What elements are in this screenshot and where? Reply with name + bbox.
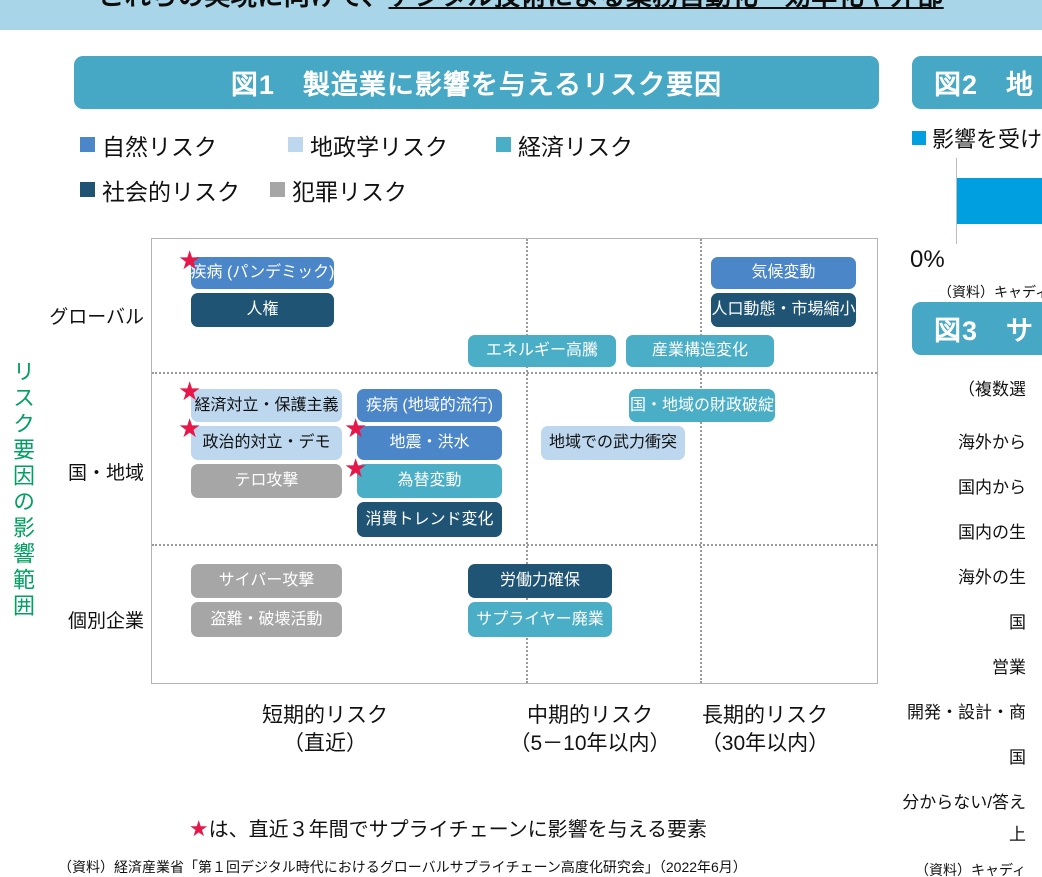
legend-swatch-crime xyxy=(270,182,285,197)
x-tick-short: 短期的リスク （直近） xyxy=(230,702,420,757)
figure-3-row-label: 上 xyxy=(1009,820,1026,845)
legend-item-crime: 犯罪リスク xyxy=(270,173,407,207)
risk-box[interactable]: 人権 xyxy=(191,293,334,327)
figure-2-source: （資料）キャディ xyxy=(938,282,1042,302)
legend-swatch-geopolitical xyxy=(288,137,303,152)
legend-label-geopolitical: 地政学リスク xyxy=(310,128,448,162)
figure-3-subtitle: （複数選 xyxy=(958,375,1026,400)
y-axis-label: リスク要因の影響範囲 xyxy=(6,360,38,620)
legend-label-social: 社会的リスク xyxy=(102,173,240,207)
slide-page: これらの実現に向けて、デジタル技術による業務自動化・効率化や外部 図1 製造業に… xyxy=(0,0,1042,877)
figure-1-panel: 図1 製造業に影響を与えるリスク要因 自然リスク 地政学リスク 経済リスク xyxy=(0,30,896,877)
legend-label-crime: 犯罪リスク xyxy=(292,173,407,207)
legend-item-geopolitical: 地政学リスク xyxy=(288,128,496,162)
matrix-hline-2 xyxy=(152,544,877,546)
top-banner: これらの実現に向けて、デジタル技術による業務自動化・効率化や外部 xyxy=(0,0,1042,30)
figure-2-legend-label: 影響を受けた xyxy=(932,122,1042,154)
x-tick-long-line2: （30年以内） xyxy=(670,730,860,758)
risk-box[interactable]: 経済対立・保護主義 xyxy=(191,389,342,422)
figure-3-row-label: 海外の生 xyxy=(958,563,1026,588)
top-banner-text: これらの実現に向けて、デジタル技術による業務自動化・効率化や外部 xyxy=(98,0,943,13)
right-panel-clipped: 図2 地 影響を受けた 0% （資料）キャディ 図3 サ （複数選 海外から 国… xyxy=(896,30,1042,877)
figure-3-row-label: 営業 xyxy=(992,653,1026,678)
y-tick-country: 国・地域 xyxy=(48,458,144,485)
y-tick-company: 個別企業 xyxy=(48,606,144,633)
y-tick-global: グローバル xyxy=(48,302,144,329)
risk-matrix: ★ 疾病 (パンデミック) 人権 エネルギー高騰 産業構造変化 気候変動 人口動… xyxy=(151,238,878,684)
x-tick-mid: 中期的リスク （5－10年以内） xyxy=(495,702,685,757)
risk-box[interactable]: 政治的対立・デモ xyxy=(191,426,342,460)
matrix-vline-2 xyxy=(700,239,702,683)
figure-3-title: 図3 サ xyxy=(912,302,1042,355)
x-tick-long: 長期的リスク （30年以内） xyxy=(670,702,860,757)
legend-row-2: 社会的リスク 犯罪リスク xyxy=(80,167,880,212)
legend-swatch-natural xyxy=(80,137,95,152)
risk-box[interactable]: サイバー攻撃 xyxy=(191,564,342,598)
legend-label-natural: 自然リスク xyxy=(102,128,217,162)
figure-3-row-label: 海外から xyxy=(958,428,1026,453)
x-tick-long-line1: 長期的リスク xyxy=(670,702,860,730)
risk-box[interactable]: 消費トレンド変化 xyxy=(357,502,502,537)
risk-box[interactable]: 疾病 (パンデミック) xyxy=(191,257,334,289)
top-banner-underlined: デジタル技術による業務自動化・効率化や外部 xyxy=(389,0,944,11)
risk-box[interactable]: エネルギー高騰 xyxy=(468,335,616,367)
figure-3-row-label: 国 xyxy=(1009,608,1026,633)
risk-box[interactable]: テロ攻撃 xyxy=(191,464,342,498)
footnote-text: は、直近３年間でサプライチェーンに影響を与える要素 xyxy=(209,819,707,841)
risk-box[interactable]: 気候変動 xyxy=(711,257,856,289)
legend-swatch-social xyxy=(80,182,95,197)
figure-3-source: （資料）キャディ xyxy=(915,860,1026,877)
risk-box[interactable]: 国・地域の財政破綻 xyxy=(629,389,775,422)
figure-2-title: 図2 地 xyxy=(912,56,1042,109)
figure-3-row-label: 国 xyxy=(1009,743,1026,768)
figure-3-row-label: 分からない/答え xyxy=(902,788,1026,813)
legend-swatch-economic xyxy=(496,137,511,152)
risk-box[interactable]: 産業構造変化 xyxy=(626,335,774,367)
x-tick-short-line1: 短期的リスク xyxy=(230,702,420,730)
risk-box[interactable]: 労働力確保 xyxy=(468,564,612,598)
figure-2-legend: 影響を受けた xyxy=(912,122,1042,154)
figure-1-title: 図1 製造業に影響を与えるリスク要因 xyxy=(74,56,879,109)
legend-item-social: 社会的リスク xyxy=(80,173,270,207)
risk-box[interactable]: 人口動態・市場縮小 xyxy=(711,293,856,327)
risk-box[interactable]: サプライヤー廃業 xyxy=(468,602,612,637)
legend-swatch-affected xyxy=(912,131,926,145)
x-tick-mid-line2: （5－10年以内） xyxy=(495,730,685,758)
x-tick-short-line2: （直近） xyxy=(230,730,420,758)
legend-item-natural: 自然リスク xyxy=(80,128,288,162)
legend-row-1: 自然リスク 地政学リスク 経済リスク xyxy=(80,122,880,167)
figure-1-source: （資料）経済産業省「第１回デジタル時代におけるグローバルサプライチェーン高度化研… xyxy=(58,857,747,877)
figure-1-legend: 自然リスク 地政学リスク 経済リスク 社会的リスク 犯罪リス xyxy=(80,122,880,212)
top-banner-plain: これらの実現に向けて、 xyxy=(98,0,388,11)
risk-box[interactable]: 疾病 (地域的流行) xyxy=(357,389,502,422)
legend-label-economic: 経済リスク xyxy=(518,128,633,162)
figure-1-footnote: ★は、直近３年間でサプライチェーンに影響を与える要素 xyxy=(0,813,896,842)
figure-2-axis-zero-label: 0% xyxy=(910,246,945,274)
figure-3-row-label: 国内から xyxy=(958,473,1026,498)
figure-3-row-label: 国内の生 xyxy=(958,518,1026,543)
legend-item-economic: 経済リスク xyxy=(496,128,633,162)
risk-box[interactable]: 為替変動 xyxy=(357,464,502,498)
matrix-hline-1 xyxy=(152,372,877,374)
figure-2-bar xyxy=(957,178,1042,224)
footnote-star-icon: ★ xyxy=(189,816,209,841)
x-tick-mid-line1: 中期的リスク xyxy=(495,702,685,730)
risk-box[interactable]: 地域での武力衝突 xyxy=(541,426,685,460)
risk-box[interactable]: 地震・洪水 xyxy=(357,426,502,460)
figure-2-chart xyxy=(956,158,1042,244)
risk-box[interactable]: 盗難・破壊活動 xyxy=(191,602,342,637)
figure-3-row-label: 開発・設計・商 xyxy=(907,698,1026,723)
